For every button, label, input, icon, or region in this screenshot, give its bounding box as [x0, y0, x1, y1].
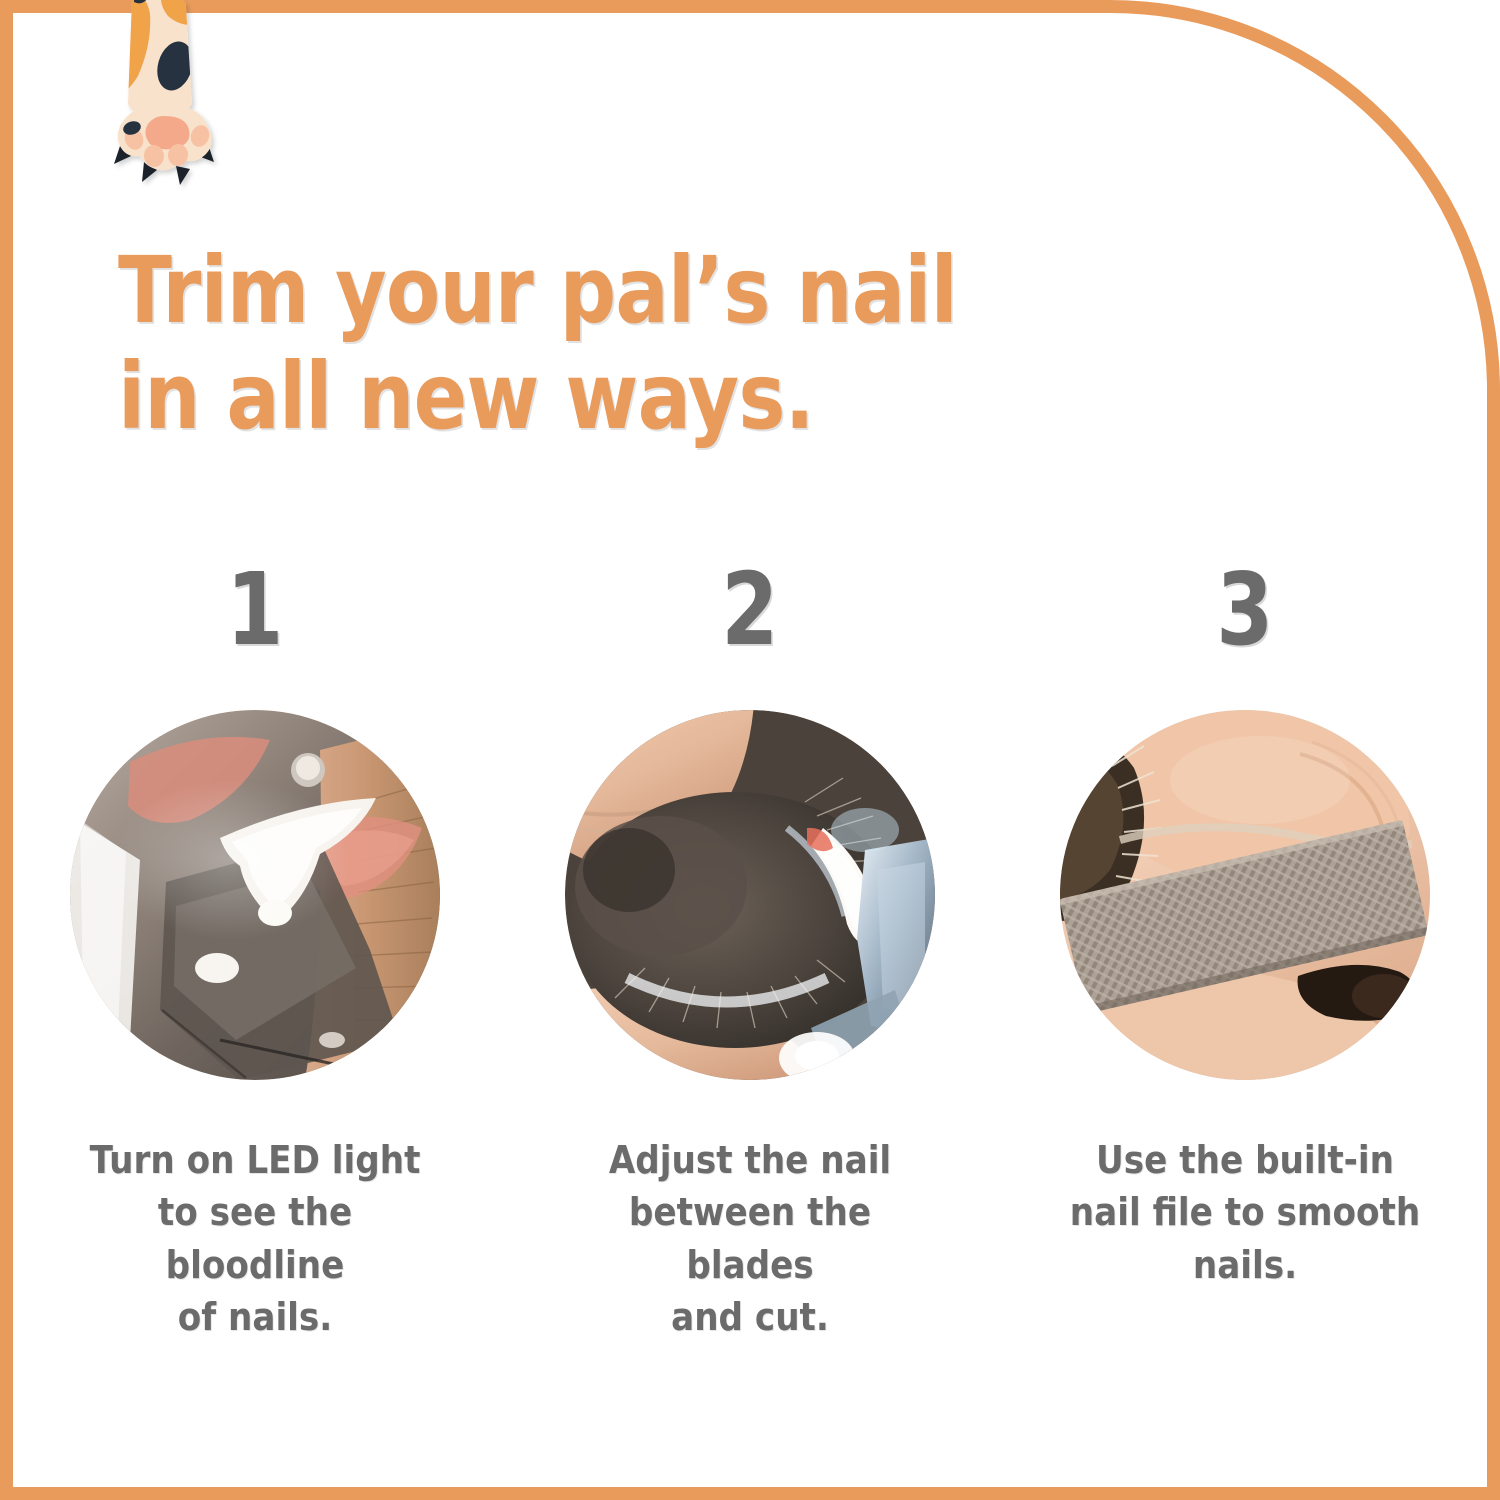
step-caption-3: Use the built-in nail file to smooth nai…	[1056, 1134, 1434, 1291]
caption-line: Use the built-in	[1096, 1138, 1394, 1182]
step-2: 2	[535, 560, 965, 1344]
step-caption-2: Adjust the nail between the blades and c…	[561, 1134, 939, 1344]
cat-paw-icon	[112, 0, 222, 190]
step-image-1	[70, 710, 440, 1080]
caption-line: nails.	[1193, 1243, 1297, 1287]
step-number-1: 1	[226, 560, 283, 668]
caption-line: of nails.	[178, 1295, 333, 1339]
caption-line: between the blades	[629, 1190, 871, 1286]
caption-line: Turn on LED light	[90, 1138, 421, 1182]
step-3: 3	[1030, 560, 1460, 1291]
step-number-2: 2	[721, 560, 778, 668]
title-line-2: in all new ways.	[118, 344, 935, 450]
page-title: Trim your pal’s nail in all new ways.	[118, 238, 935, 450]
steps-row: 1	[40, 560, 1460, 1344]
promo-banner: Trim your pal’s nail in all new ways. 1	[0, 0, 1500, 1500]
caption-line: Adjust the nail	[609, 1138, 891, 1182]
step-1: 1	[40, 560, 470, 1344]
step-image-2	[565, 710, 935, 1080]
step-number-3: 3	[1216, 560, 1273, 668]
step-caption-1: Turn on LED light to see the bloodline o…	[66, 1134, 444, 1344]
caption-line: nail file to smooth	[1070, 1190, 1420, 1234]
caption-line: and cut.	[671, 1295, 829, 1339]
title-line-1: Trim your pal’s nail	[118, 238, 935, 344]
caption-line: to see the bloodline	[158, 1190, 352, 1286]
step-image-3	[1060, 710, 1430, 1080]
